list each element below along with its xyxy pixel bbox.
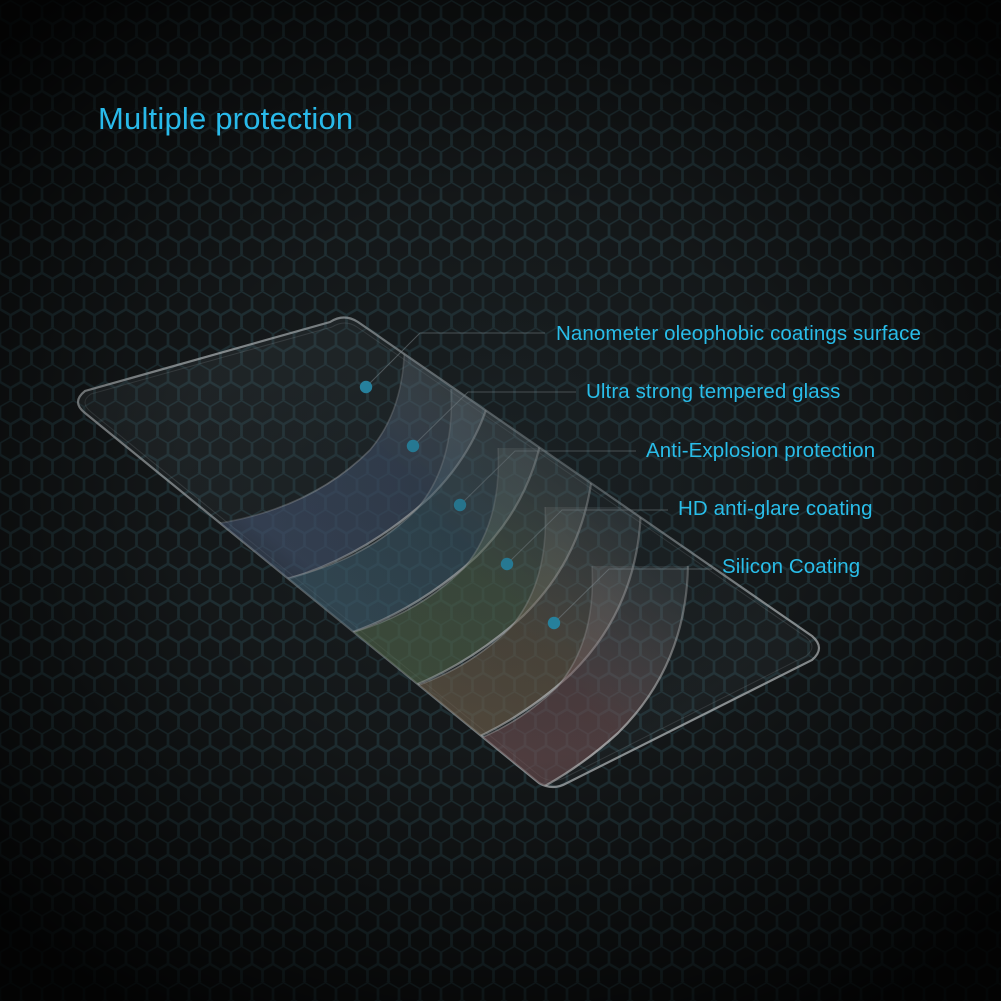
layer-label-0: Nanometer oleophobic coatings surface — [556, 322, 921, 346]
protector-infographic: Multiple protection Nanometer oleophobic… — [0, 0, 1001, 1001]
layer-label-2: Anti-Explosion protection — [646, 439, 875, 463]
layer-label-3: HD anti-glare coating — [678, 497, 873, 521]
layer-label-4: Silicon Coating — [722, 555, 860, 579]
callout-dot-0[interactable] — [360, 381, 372, 393]
layer-label-1: Ultra strong tempered glass — [586, 380, 841, 404]
callout-dot-4[interactable] — [548, 617, 560, 629]
callout-dot-3[interactable] — [501, 558, 513, 570]
page-title: Multiple protection — [98, 101, 353, 137]
callout-dot-1[interactable] — [407, 440, 419, 452]
callout-dot-2[interactable] — [454, 499, 466, 511]
